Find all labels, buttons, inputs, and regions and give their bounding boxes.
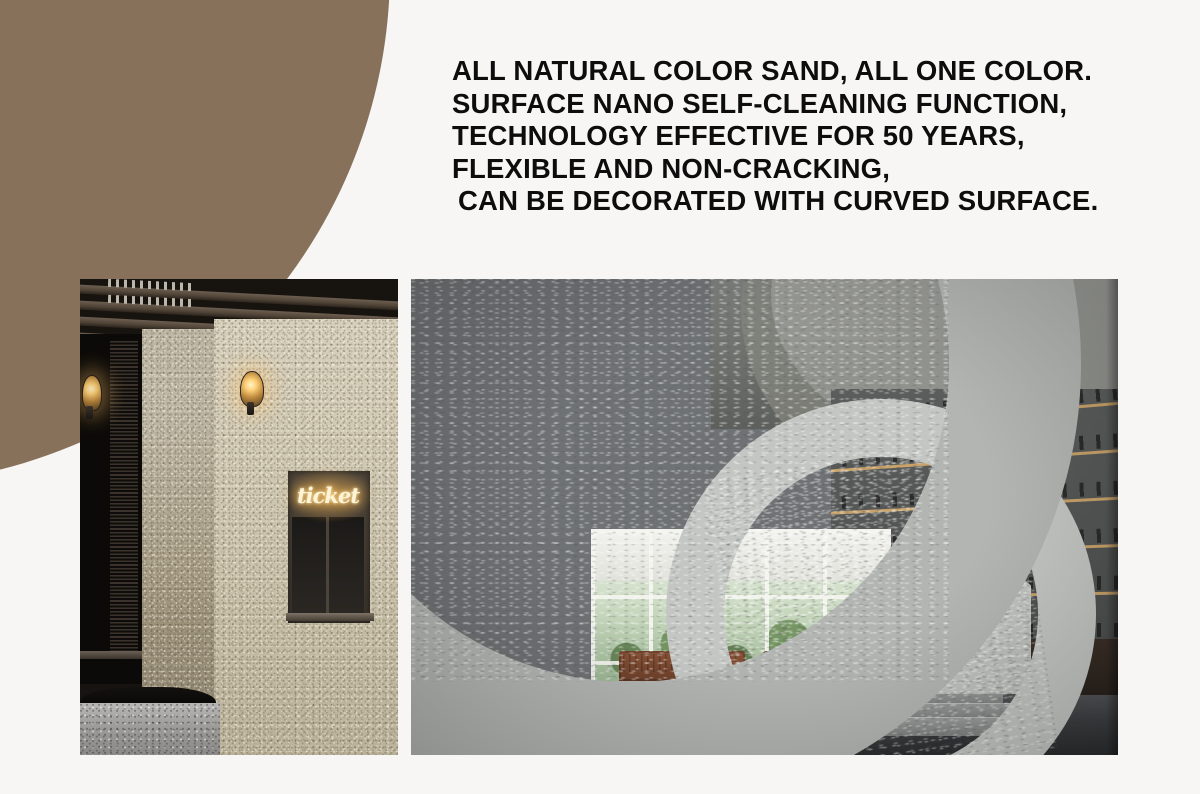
ticket-neon-sign: ticket (292, 475, 364, 515)
headline-line-3: TECHNOLOGY EFFECTIVE FOR 50 YEARS, (452, 120, 1098, 153)
lobby-scene (411, 279, 1118, 755)
plaster-texture (411, 279, 949, 682)
poster-page: ALL NATURAL COLOR SAND, ALL ONE COLOR. S… (0, 0, 1200, 794)
wall-lamp-arm (247, 402, 254, 415)
entry-step (80, 703, 220, 755)
vertical-louver-screen (110, 341, 138, 651)
right-edge-shadow (1106, 279, 1118, 755)
headline-line-2: SURFACE NANO SELF-CLEANING FUNCTION, (452, 88, 1098, 121)
headline-line-1: ALL NATURAL COLOR SAND, ALL ONE COLOR. (452, 55, 1098, 88)
window-mullion (326, 517, 329, 613)
headline-line-4: FLEXIBLE AND NON-CRACKING, (452, 153, 1098, 186)
photo-interior-curved-stair (411, 279, 1118, 755)
facade-scene: ticket (80, 279, 398, 755)
headline-text-block: ALL NATURAL COLOR SAND, ALL ONE COLOR. S… (452, 55, 1098, 218)
ticket-window-sill (286, 613, 374, 621)
headline-line-5: CAN BE DECORATED WITH CURVED SURFACE. (452, 185, 1098, 218)
photo-exterior-facade: ticket (80, 279, 398, 755)
wall-lamp-arm (86, 406, 93, 419)
terrazzo-texture (80, 703, 220, 755)
